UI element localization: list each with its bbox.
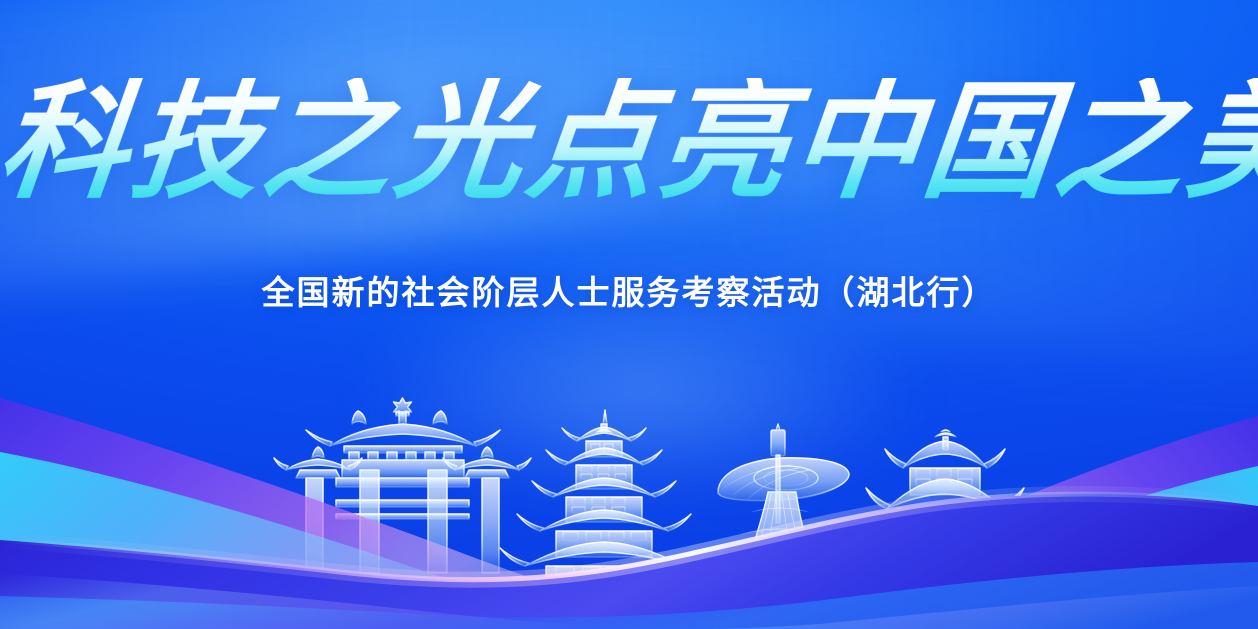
event-banner: 科技之光点亮中国之美 全国新的社会阶层人士服务考察活动（湖北行） — [0, 0, 1258, 629]
headline-container: 科技之光点亮中国之美 — [0, 78, 1258, 209]
traditional-pavilion-graphic — [847, 430, 1043, 596]
modern-tower-graphic — [718, 424, 849, 596]
subtitle-container: 全国新的社会阶层人士服务考察活动（湖北行） — [0, 266, 1258, 314]
paifang-archway-graphic — [274, 398, 531, 573]
yellow-crane-tower-graphic — [500, 410, 708, 600]
event-subtitle: 全国新的社会阶层人士服务考察活动（湖北行） — [262, 266, 997, 314]
page-title: 科技之光点亮中国之美 — [0, 78, 1258, 209]
